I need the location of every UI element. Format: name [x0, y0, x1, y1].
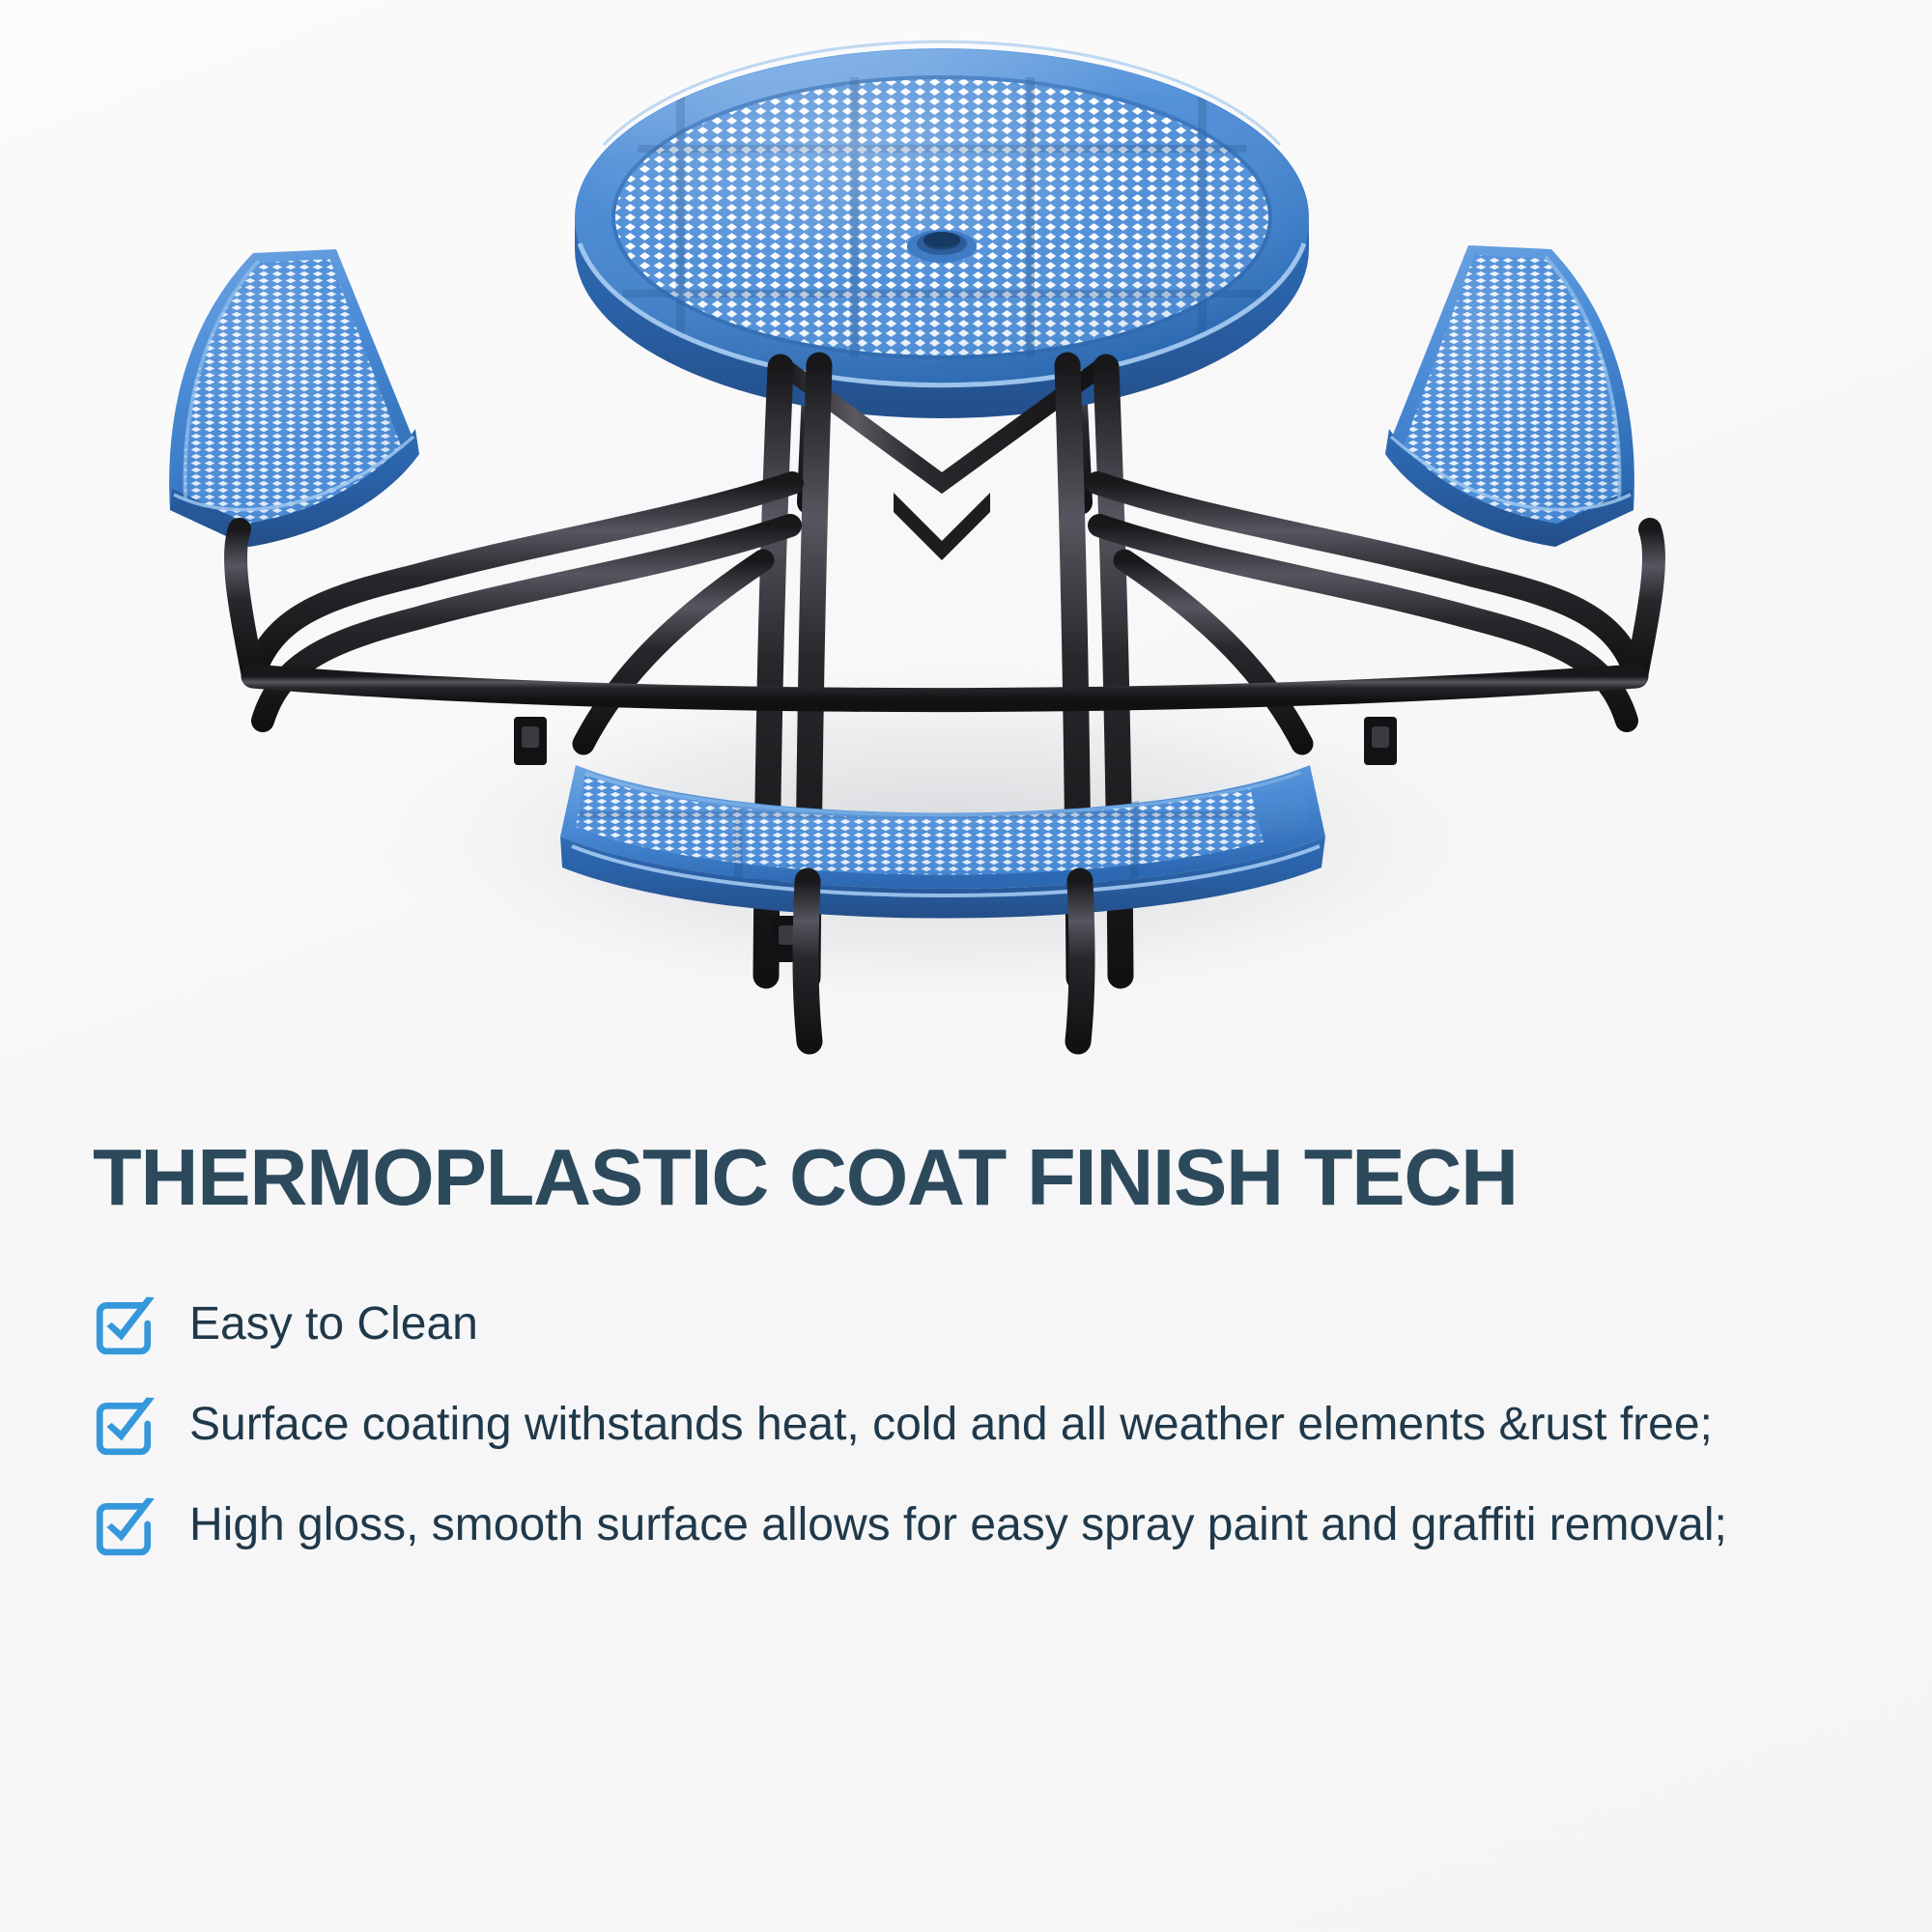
page-title: THERMOPLASTIC COAT FINISH TECH — [93, 1135, 1839, 1220]
round-mesh-tabletop — [575, 42, 1309, 418]
list-item-label: High gloss, smooth surface allows for ea… — [189, 1491, 1727, 1559]
list-item-label: Surface coating withstands heat, cold an… — [189, 1390, 1713, 1459]
bench-seat-right — [1385, 245, 1634, 547]
umbrella-hole — [907, 230, 977, 263]
feature-list: Easy to Clean Surface coating withstands… — [93, 1290, 1839, 1559]
list-item: Surface coating withstands heat, cold an… — [93, 1390, 1839, 1459]
feature-text-block: THERMOPLASTIC COAT FINISH TECH Easy to C… — [0, 1135, 1932, 1559]
checkbox-checked-icon — [93, 1293, 156, 1357]
checkbox-checked-icon — [93, 1494, 156, 1558]
list-item-label: Easy to Clean — [189, 1290, 478, 1358]
bench-seat-left — [169, 249, 419, 547]
list-item: Easy to Clean — [93, 1290, 1839, 1358]
product-image — [0, 0, 1932, 1121]
product-feature-page: THERMOPLASTIC COAT FINISH TECH Easy to C… — [0, 0, 1932, 1932]
list-item: High gloss, smooth surface allows for ea… — [93, 1491, 1839, 1559]
checkbox-checked-icon — [93, 1394, 156, 1458]
